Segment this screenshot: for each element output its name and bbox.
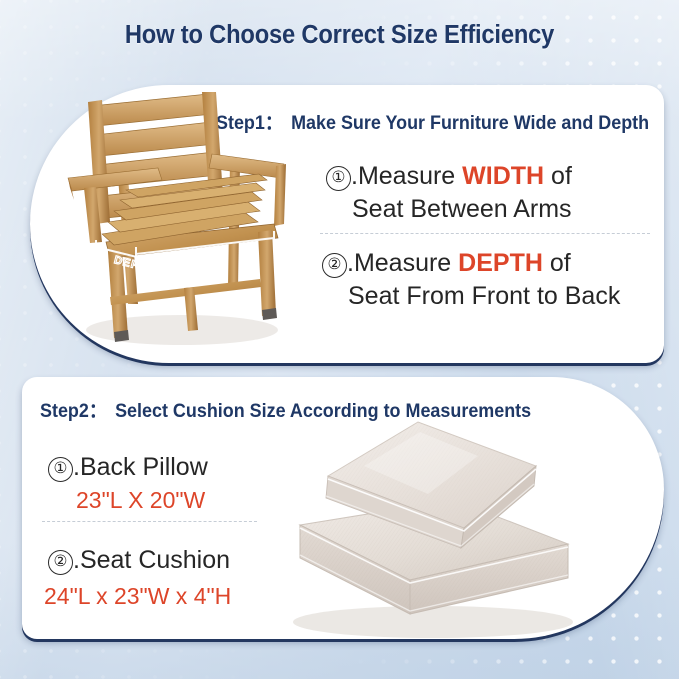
step1-divider xyxy=(320,233,650,234)
chair-width-label: WIDTH xyxy=(181,251,223,267)
step2-item-1-title: ①.Back Pillow xyxy=(48,453,208,482)
step1-item-2: ②.Measure DEPTH of Seat From Front to Ba… xyxy=(322,247,620,313)
measure-depth-keyword: DEPTH xyxy=(458,249,543,277)
chair-illustration: WIDTH DEPTH xyxy=(62,92,297,354)
step2-label: Step2 xyxy=(40,400,89,422)
page-title: How to Choose Correct Size Efficiency xyxy=(24,21,655,50)
measure-depth-line2: Seat From Front to Back xyxy=(322,280,620,313)
circled-number-1: ① xyxy=(326,166,351,191)
circled-number-2-step2: ② xyxy=(48,550,73,575)
circled-number-1-step2: ① xyxy=(48,457,73,482)
step1-heading-text: Make Sure Your Furniture Wide and Depth xyxy=(291,112,649,134)
step1-item-1: ①.Measure WIDTH of Seat Between Arms xyxy=(326,160,572,226)
infographic-stage: How to Choose Correct Size Efficiency St… xyxy=(0,0,679,679)
circled-number-2: ② xyxy=(322,253,347,278)
step2-colon: ： xyxy=(89,400,107,422)
measure-width-post: of xyxy=(544,162,572,190)
seat-cushion-name: .Seat Cushion xyxy=(73,546,230,574)
measure-width-pre: .Measure xyxy=(351,162,462,190)
back-pillow-dimensions: 23"L X 20"W xyxy=(76,487,205,514)
cushion-illustration xyxy=(268,408,588,642)
measure-depth-pre: .Measure xyxy=(347,249,458,277)
seat-cushion-dimensions: 24"L x 23"W x 4"H xyxy=(44,583,231,610)
step2-divider xyxy=(42,521,257,522)
measure-width-keyword: WIDTH xyxy=(462,162,544,190)
measure-depth-post: of xyxy=(543,249,571,277)
back-pillow-name: .Back Pillow xyxy=(73,453,208,481)
measure-width-line2: Seat Between Arms xyxy=(326,193,572,226)
step2-item-2-title: ②.Seat Cushion xyxy=(48,546,230,575)
